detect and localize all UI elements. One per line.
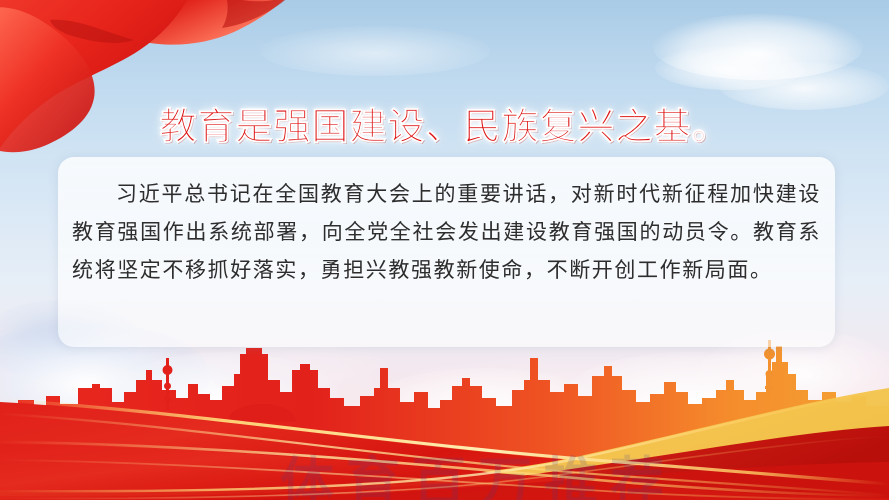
bottom-graphic [0,340,889,500]
poster-body-text: 习近平总书记在全国教育大会上的重要讲话，对新时代新征程加快建设教育强国作出系统部… [68,175,825,289]
poster-title-container: 教育是强国建设、民族复兴之基。 [0,96,889,150]
content-panel: 习近平总书记在全国教育大会上的重要讲话，对新时代新征程加快建设教育强国作出系统部… [58,157,835,347]
poster-canvas: 教育是强国建设、民族复兴之基。 习近平总书记在全国教育大会上的重要讲话，对新时代… [0,0,889,500]
poster-title: 教育是强国建设、民族复兴之基。 [160,96,730,150]
